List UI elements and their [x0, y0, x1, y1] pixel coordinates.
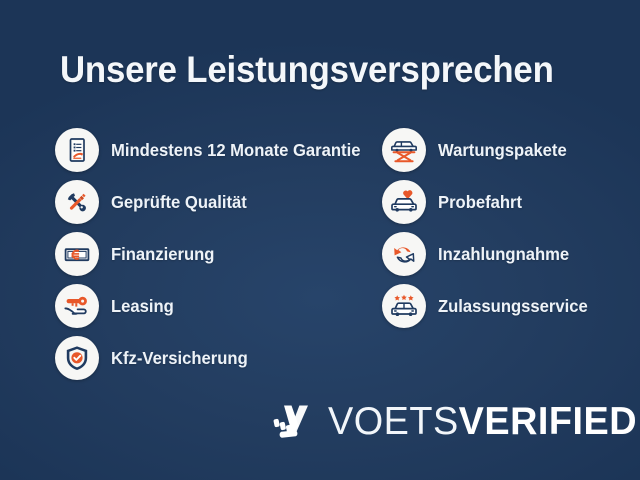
document-stamp-icon — [55, 128, 99, 172]
brand-logo-text: VOETSVERIFIED — [328, 402, 637, 441]
feature-item-probefahrt: Probefahrt — [382, 180, 596, 224]
feature-label: Geprüfte Qualität — [111, 192, 247, 213]
feature-label: Mindestens 12 Monate Garantie — [111, 140, 360, 161]
feature-item-inzahlungnahme: Inzahlungnahme — [382, 232, 596, 276]
exchange-arrows-icon — [382, 232, 426, 276]
feature-item-qualitaet: Geprüfte Qualität — [55, 180, 374, 224]
feature-column-left: Mindestens 12 Monate Garantie Geprüfte Q… — [55, 128, 374, 388]
feature-item-finanzierung: Finanzierung — [55, 232, 374, 276]
car-heart-icon — [382, 180, 426, 224]
page-title: Unsere Leistungsversprechen — [60, 49, 554, 91]
car-lift-icon — [382, 128, 426, 172]
feature-item-versicherung: Kfz-Versicherung — [55, 336, 374, 380]
feature-item-leasing: Leasing — [55, 284, 374, 328]
shield-check-icon — [55, 336, 99, 380]
feature-label: Probefahrt — [438, 192, 522, 213]
feature-label: Inzahlungnahme — [438, 244, 569, 265]
car-stars-icon — [382, 284, 426, 328]
feature-label: Zulassungsservice — [438, 296, 588, 317]
feature-label: Kfz-Versicherung — [111, 348, 248, 369]
feature-label: Finanzierung — [111, 244, 214, 265]
feature-column-right: Wartungspakete Probefahrt — [382, 128, 596, 336]
brand-name-light: VOETS — [328, 400, 459, 443]
feature-item-garantie: Mindestens 12 Monate Garantie — [55, 128, 374, 172]
hand-key-icon — [55, 284, 99, 328]
feature-label: Wartungspakete — [438, 140, 567, 161]
feature-label: Leasing — [111, 296, 174, 317]
euro-banknote-icon — [55, 232, 99, 276]
voets-check-mark-icon — [270, 398, 316, 444]
brand-logo: VOETSVERIFIED — [270, 398, 640, 444]
brand-name-bold: VERIFIED — [459, 400, 637, 443]
promo-poster: Unsere Leistungsversprechen — [0, 0, 640, 480]
feature-item-zulassungsservice: Zulassungsservice — [382, 284, 596, 328]
feature-item-wartungspakete: Wartungspakete — [382, 128, 596, 172]
wrench-screwdriver-icon — [55, 180, 99, 224]
